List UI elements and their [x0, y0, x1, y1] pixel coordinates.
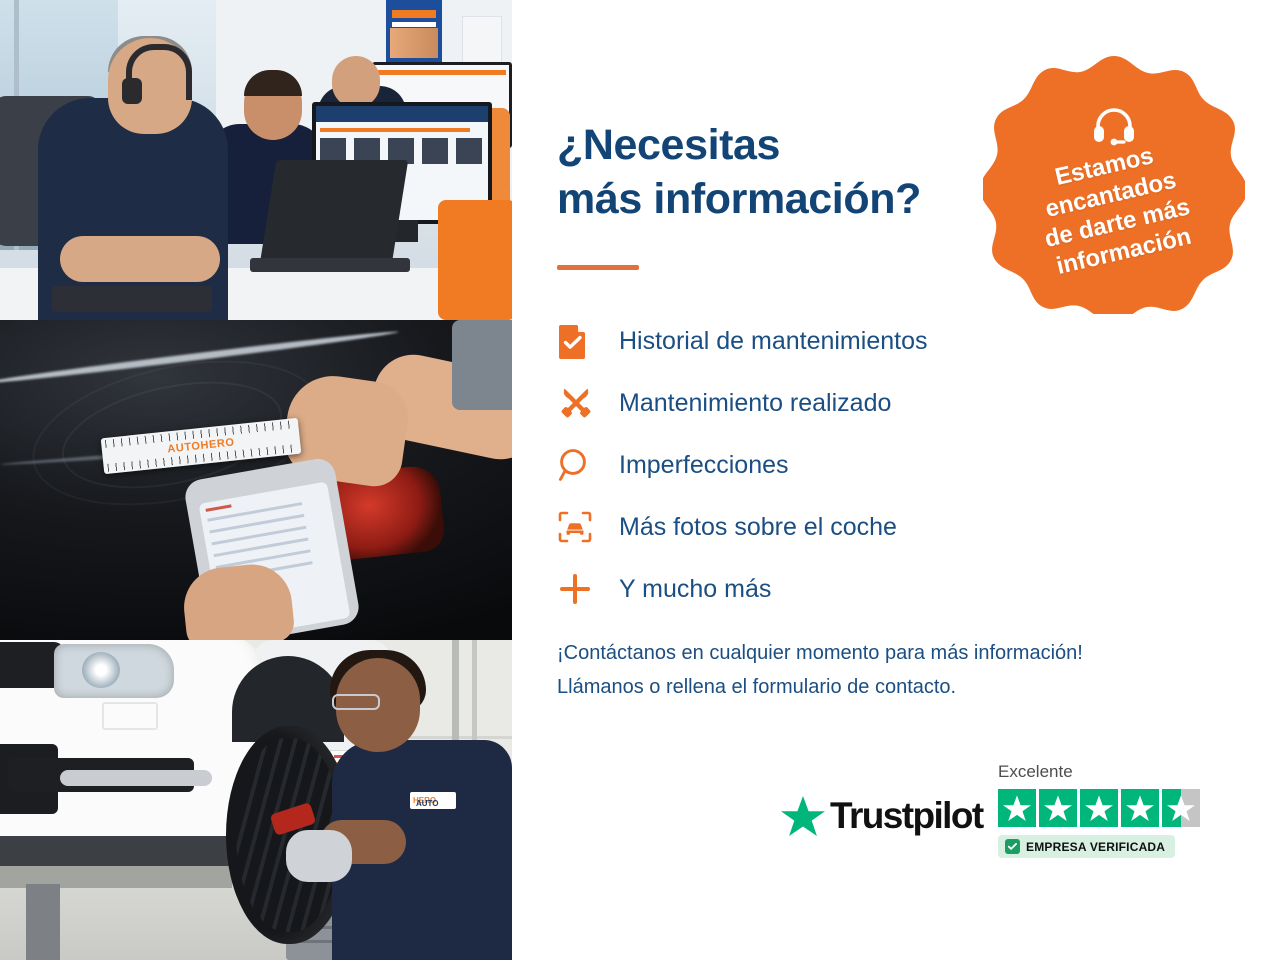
feature-label: Mantenimiento realizado	[619, 388, 891, 418]
feature-item-fotos: Más fotos sobre el coche	[557, 496, 1077, 558]
feature-item-historial: Historial de mantenimientos	[557, 310, 1077, 372]
feature-label: Imperfecciones	[619, 450, 789, 480]
title-divider	[557, 265, 639, 270]
car-frame-icon	[557, 510, 619, 544]
plate-area	[102, 702, 158, 730]
workshop-tire-photo: AUTOHERO	[0, 640, 512, 960]
star-rating	[998, 789, 1228, 827]
feature-item-mantenimiento: Mantenimiento realizado	[557, 372, 1077, 434]
star-2	[1039, 789, 1077, 827]
chrome-trim	[60, 770, 212, 786]
trustpilot-star-icon	[780, 794, 826, 838]
headset-earcup	[122, 78, 142, 104]
badge-content: Estamos encantados de darte más informac…	[983, 52, 1245, 314]
headset-icon	[1092, 106, 1136, 151]
feature-item-imperfecciones: Imperfecciones	[557, 434, 1077, 496]
call-center-agents-photo	[0, 0, 512, 320]
verified-label: EMPRESA VERIFICADA	[1026, 840, 1165, 854]
feature-label: Y mucho más	[619, 574, 771, 604]
feature-label: Historial de mantenimientos	[619, 326, 927, 356]
magnifier-icon	[557, 447, 619, 483]
lift-column	[26, 884, 60, 960]
contact-line-one: ¡Contáctanos en cualquier momento para m…	[557, 636, 1237, 670]
feature-label: Más fotos sobre el coche	[619, 512, 897, 542]
trustpilot-wordmark: Trustpilot	[830, 796, 983, 836]
feature-list: Historial de mantenimientos M	[557, 310, 1077, 620]
trustpilot-logo[interactable]: Trustpilot	[780, 794, 983, 838]
tools-icon	[557, 384, 619, 422]
page-title-line-one: ¿Necesitas	[557, 118, 997, 172]
agent-three-head	[332, 56, 380, 108]
promo-badge: Estamos encantados de darte más informac…	[983, 52, 1245, 314]
uniform-brand-auto: AUTO	[416, 798, 439, 809]
ruler-brand-hero: HERO	[200, 437, 235, 453]
ruler-brand-auto: AUTO	[167, 440, 201, 455]
shield-check-icon	[1005, 839, 1020, 854]
page-title: ¿Necesitas más información?	[557, 118, 997, 226]
wall-poster-photo	[390, 28, 438, 58]
plus-icon	[557, 571, 619, 607]
feature-item-mucho-mas: Y mucho más	[557, 558, 1077, 620]
laptop-base	[250, 258, 410, 272]
star-5-half	[1162, 789, 1200, 827]
car-headlight	[54, 644, 174, 698]
star-1	[998, 789, 1036, 827]
trustpilot-rating: Excelente	[998, 762, 1228, 859]
star-3	[1080, 789, 1118, 827]
desk-tablet	[52, 286, 212, 312]
star-4	[1121, 789, 1159, 827]
work-glove	[286, 830, 352, 882]
document-check-icon	[557, 323, 619, 359]
page-title-line-two: más información?	[557, 172, 997, 226]
safety-glasses	[332, 694, 380, 710]
uniform-logo-badge: AUTOHERO	[410, 792, 456, 809]
contact-line-two: Llámanos o rellena el formulario de cont…	[557, 670, 1237, 704]
agent-one-arms	[60, 236, 220, 282]
rating-label: Excelente	[998, 762, 1228, 782]
photo-column: AUTOHERO	[0, 0, 512, 960]
verified-company-badge: EMPRESA VERIFICADA	[998, 835, 1175, 858]
trustpilot-block: Trustpilot Excelente	[780, 762, 1240, 882]
contact-paragraph: ¡Contáctanos en cualquier momento para m…	[557, 636, 1237, 704]
orange-chair-front	[438, 200, 512, 320]
badge-text: Estamos encantados de darte más informac…	[1029, 135, 1199, 281]
car-inspection-photo: AUTOHERO	[0, 320, 512, 640]
promo-page: AUTOHERO	[0, 0, 1280, 960]
inspector-sleeve	[452, 320, 512, 410]
laptop-screen	[260, 160, 408, 264]
